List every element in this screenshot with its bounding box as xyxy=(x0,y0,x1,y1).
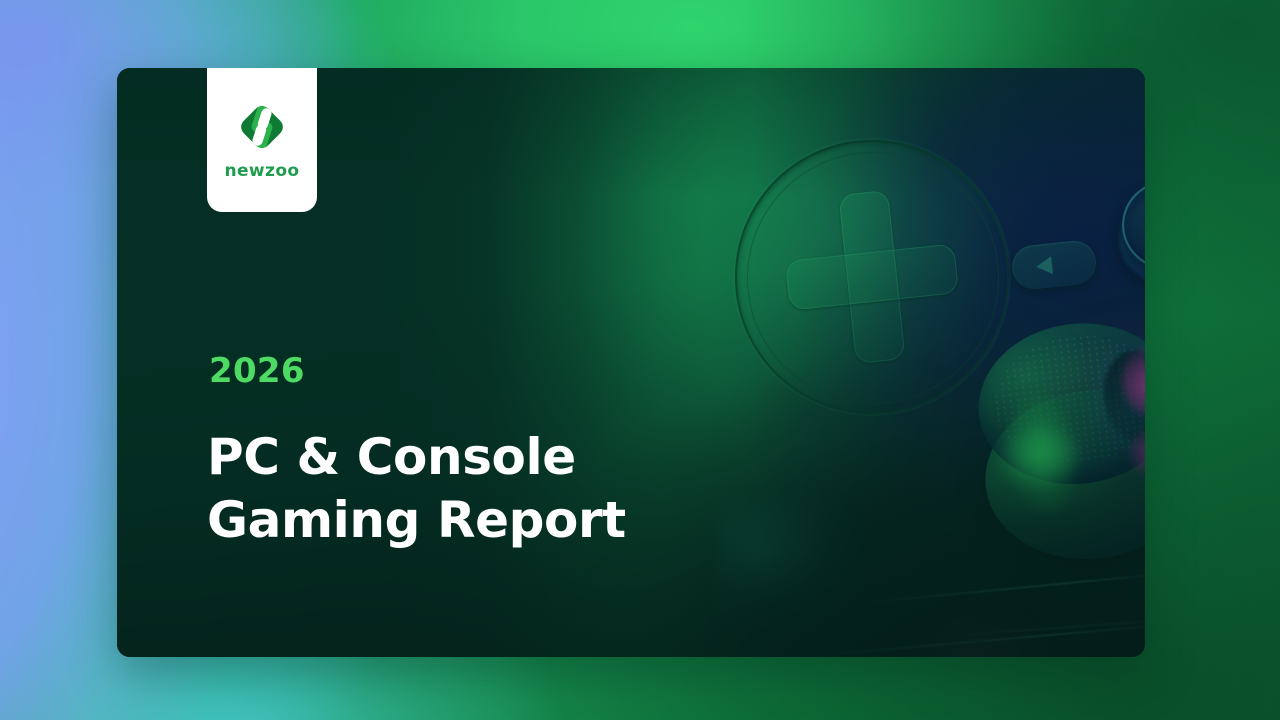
report-title-line-1: PC & Console xyxy=(207,426,827,489)
cover-copy-block: 2026 PC & Console Gaming Report xyxy=(207,354,827,552)
newzoo-logo-badge[interactable]: newzoo xyxy=(207,68,317,212)
report-cover-card: newzoo 2026 PC & Console Gaming Report xyxy=(117,68,1145,657)
report-title-line-2: Gaming Report xyxy=(207,489,827,552)
newzoo-wordmark: newzoo xyxy=(225,161,300,181)
newzoo-diamond-logo-icon xyxy=(235,100,289,154)
report-year: 2026 xyxy=(209,354,827,388)
